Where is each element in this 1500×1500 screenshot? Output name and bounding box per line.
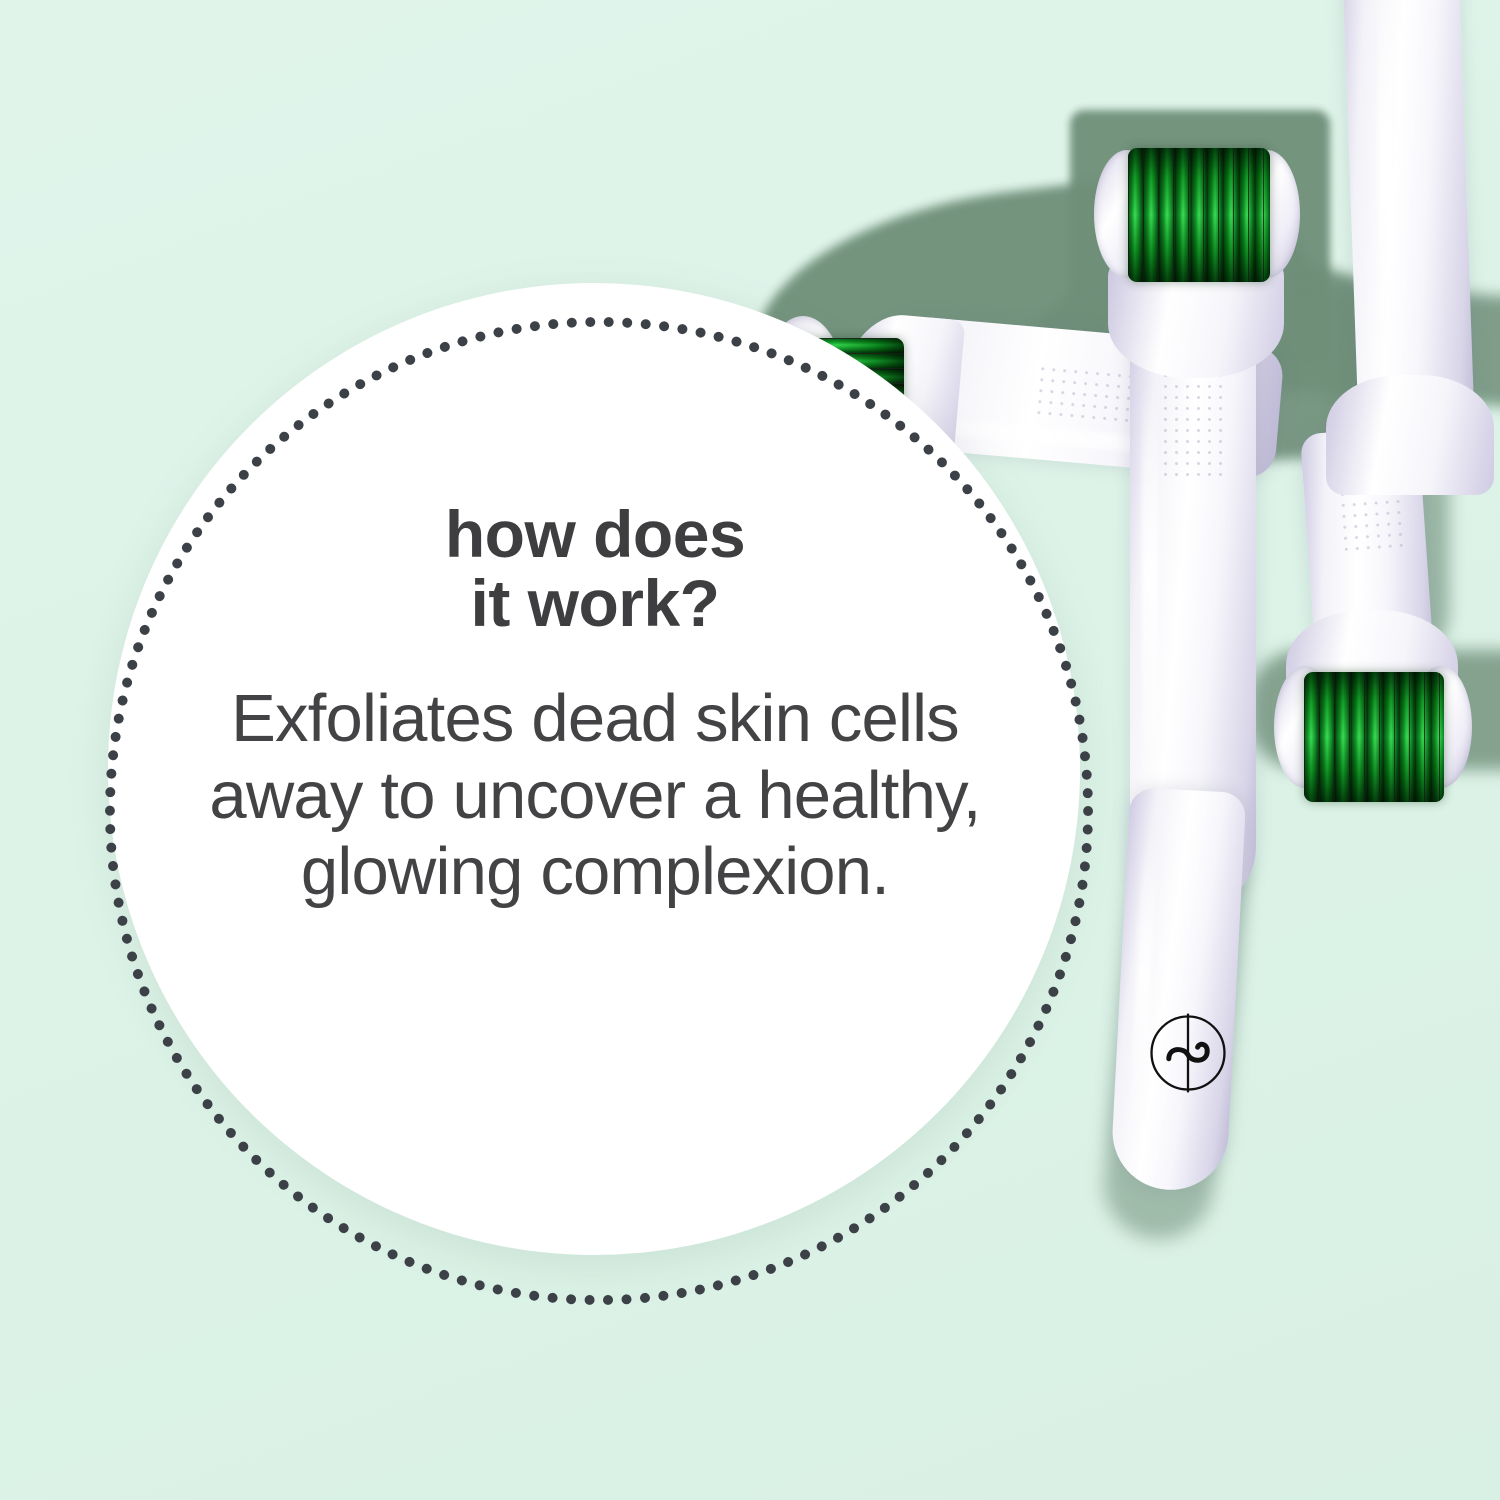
roller-bottom-needle-drum: [1304, 672, 1444, 802]
roller-bottom-lower-handle: [1110, 787, 1247, 1193]
logo-badge: [1140, 1005, 1236, 1101]
brand-logo-icon: [1140, 1005, 1236, 1101]
page-title: how does it work?: [185, 500, 1005, 637]
handle-far-right-head: [1326, 375, 1494, 495]
promo-graphic: how does it work? Exfoliates dead skin c…: [0, 0, 1500, 1500]
roller-top-needles: [1128, 148, 1270, 282]
roller-top-needle-drum: [1128, 148, 1270, 282]
copy-block: how does it work? Exfoliates dead skin c…: [185, 500, 1005, 910]
body-paragraph: Exfoliates dead skin cells away to uncov…: [185, 681, 1005, 910]
roller-bottom-needles: [1304, 672, 1444, 802]
